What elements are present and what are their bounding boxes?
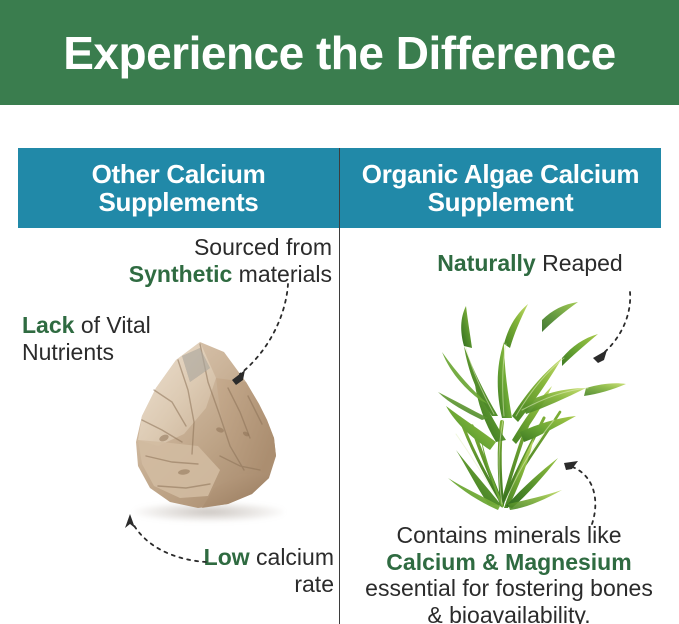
comparison-infographic: Experience the Difference Other Calcium … [0, 0, 679, 624]
column-header-right-line1: Organic Algae Calcium Supplement [362, 159, 639, 217]
note-sourced-tail: materials [232, 261, 332, 287]
rock-illustration [128, 338, 294, 514]
page-title: Experience the Difference [63, 30, 616, 76]
note-low-calcium-rate: Low calcium rate [168, 544, 334, 597]
note-contains-lead: Contains minerals like [397, 522, 622, 548]
note-contains-minerals: Contains minerals like Calcium & Magnesi… [356, 522, 662, 624]
rock-image [128, 338, 294, 518]
note-lack-highlight: Lack [22, 312, 74, 338]
note-sourced-from-synthetic: Sourced from Synthetic materials [120, 234, 332, 287]
column-header-right-label: Organic Algae Calcium Supplement [340, 160, 661, 216]
note-sourced-highlight: Synthetic [129, 261, 233, 287]
note-naturally-tail: Reaped [536, 250, 623, 276]
column-header-left-label: Other Calcium Supplements [18, 160, 339, 216]
algae-illustration [430, 300, 630, 515]
note-low-tail: calcium rate [250, 544, 334, 597]
note-sourced-lead: Sourced from [194, 234, 332, 260]
note-naturally-highlight: Naturally [437, 250, 535, 276]
column-header-other-calcium-supplements: Other Calcium Supplements [18, 148, 339, 228]
note-contains-tail: essential for fostering bones & bioavail… [365, 575, 653, 624]
page-banner: Experience the Difference [0, 0, 679, 105]
note-contains-highlight: Calcium & Magnesium [386, 549, 631, 575]
algae-image [430, 300, 630, 515]
note-low-highlight: Low [204, 544, 250, 570]
note-naturally-reaped: Naturally Reaped [396, 250, 664, 277]
column-header-organic-algae-calcium-supplement: Organic Algae Calcium Supplement [340, 148, 661, 228]
column-header-left-line1: Other Calcium Supplements [92, 159, 266, 217]
